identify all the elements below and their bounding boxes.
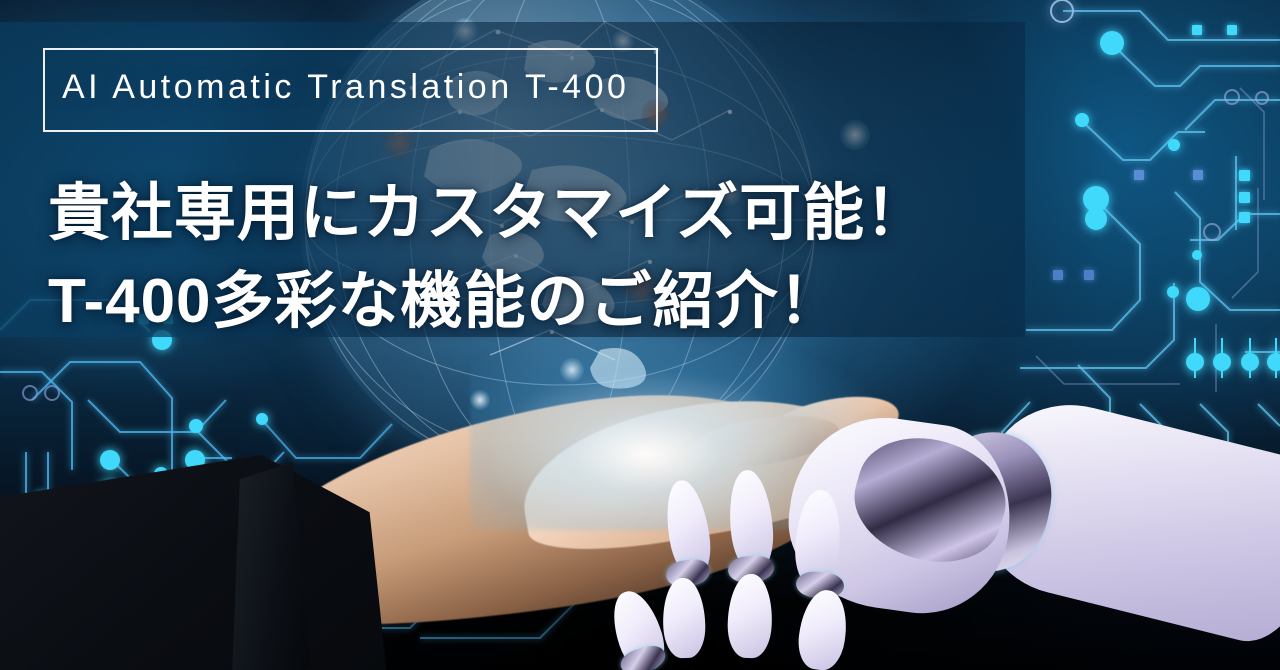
- text-overlay-panel: AI Automatic Translation T-400 貴社専用にカスタマ…: [0, 22, 1025, 337]
- headline-line-1: 貴社専用にカスタマイズ可能！: [48, 162, 928, 252]
- product-title: AI Automatic Translation T-400: [62, 68, 629, 107]
- banner-hero: AI Automatic Translation T-400 貴社専用にカスタマ…: [0, 0, 1280, 670]
- headline-line-2: T-400多彩な機能のご紹介！: [48, 250, 842, 340]
